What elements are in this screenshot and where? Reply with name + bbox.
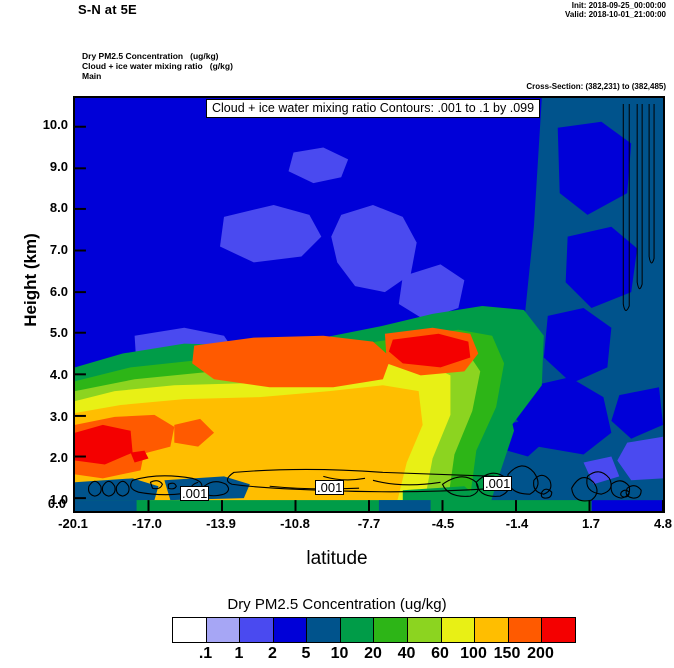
colorbar-label-2: 2 bbox=[268, 645, 277, 663]
colorbar-label-0: .1 bbox=[199, 645, 212, 663]
field-description: Dry PM2.5 Concentration (ug/kg) Cloud + … bbox=[82, 51, 233, 81]
colorbar-swatch-6 bbox=[374, 618, 408, 642]
x-tick-7: 1.7 bbox=[582, 516, 600, 531]
contour-value-label: .001 bbox=[483, 476, 512, 491]
x-axis-labels: -20.1 -17.0 -13.9 -10.8 -7.7 -4.5 -1.4 1… bbox=[73, 516, 665, 536]
colorbar-swatch-10 bbox=[509, 618, 543, 642]
x-tick-2: -13.9 bbox=[206, 516, 236, 531]
colorbar-swatch-8 bbox=[442, 618, 476, 642]
colorbar bbox=[172, 617, 576, 643]
y-axis-title: Height (km) bbox=[21, 225, 41, 335]
pm25-filled-contour-field bbox=[75, 98, 663, 511]
init-time: Init: 2018-09-25_00:00:00 bbox=[565, 1, 666, 10]
colorbar-label-5: 20 bbox=[364, 645, 382, 663]
contour-value-label: .001 bbox=[315, 480, 344, 495]
colorbar-title: Dry PM2.5 Concentration (ug/kg) bbox=[0, 596, 674, 613]
colorbar-label-4: 10 bbox=[331, 645, 349, 663]
y-tick-7: 3.0 bbox=[22, 409, 68, 424]
y-tick-1: 9.0 bbox=[22, 159, 68, 174]
run-time-block: Init: 2018-09-25_00:00:00 Valid: 2018-10… bbox=[565, 1, 666, 19]
colorbar-swatch-1 bbox=[207, 618, 241, 642]
page-title: S-N at 5E bbox=[78, 2, 137, 17]
y-tick-10: 0.0 bbox=[20, 496, 66, 511]
y-tick-2: 8.0 bbox=[22, 200, 68, 215]
colorbar-label-8: 100 bbox=[460, 645, 487, 663]
colorbar-labels: .112510204060100150200 bbox=[172, 645, 574, 667]
cross-section-label: Cross-Section: (382,231) to (382,485) bbox=[526, 82, 666, 91]
colorbar-swatch-11 bbox=[542, 618, 575, 642]
valid-time: Valid: 2018-10-01_21:00:00 bbox=[565, 10, 666, 19]
x-tick-1: -17.0 bbox=[132, 516, 162, 531]
colorbar-swatch-9 bbox=[475, 618, 509, 642]
contour-legend-box: Cloud + ice water mixing ratio Contours:… bbox=[206, 99, 540, 118]
colorbar-swatch-3 bbox=[274, 618, 308, 642]
x-axis-title: latitude bbox=[0, 548, 674, 570]
colorbar-label-3: 5 bbox=[302, 645, 311, 663]
colorbar-label-7: 60 bbox=[431, 645, 449, 663]
cross-section-plot: .001.001.001 bbox=[73, 96, 665, 513]
colorbar-swatch-2 bbox=[240, 618, 274, 642]
colorbar-label-1: 1 bbox=[235, 645, 244, 663]
x-tick-4: -7.7 bbox=[358, 516, 380, 531]
colorbar-label-6: 40 bbox=[398, 645, 416, 663]
colorbar-swatch-0 bbox=[173, 618, 207, 642]
colorbar-swatch-5 bbox=[341, 618, 375, 642]
colorbar-label-9: 150 bbox=[494, 645, 521, 663]
x-tick-3: -10.8 bbox=[280, 516, 310, 531]
y-tick-0: 10.0 bbox=[22, 117, 68, 132]
x-tick-5: -4.5 bbox=[432, 516, 454, 531]
colorbar-swatch-4 bbox=[307, 618, 341, 642]
colorbar-label-10: 200 bbox=[527, 645, 554, 663]
x-tick-6: -1.4 bbox=[506, 516, 528, 531]
x-tick-8: 4.8 bbox=[654, 516, 672, 531]
contour-value-label: .001 bbox=[180, 486, 209, 501]
y-tick-6: 4.0 bbox=[22, 367, 68, 382]
y-tick-8: 2.0 bbox=[22, 450, 68, 465]
colorbar-swatch-7 bbox=[408, 618, 442, 642]
x-tick-0: -20.1 bbox=[58, 516, 88, 531]
